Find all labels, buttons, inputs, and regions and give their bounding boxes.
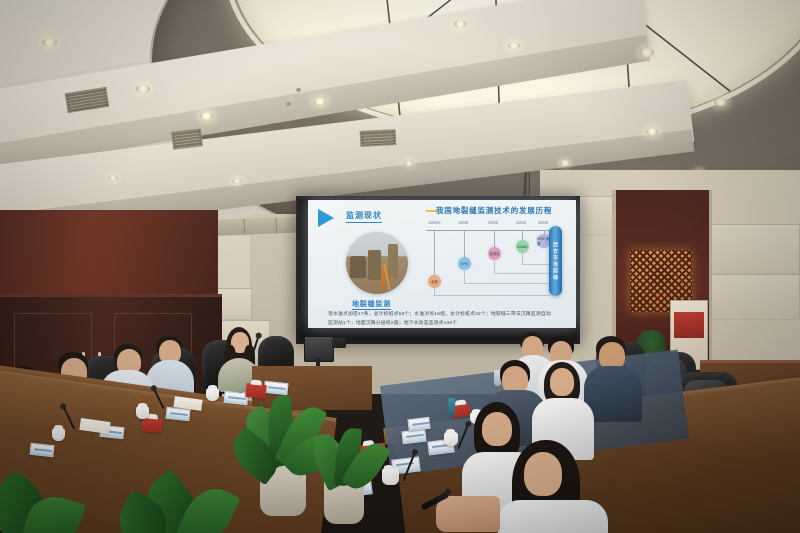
name-card: [29, 443, 54, 457]
camera-device: [332, 338, 346, 348]
slide-header: 我国地裂缝监测技术的发展历程: [436, 205, 552, 216]
timeline-year-2: 2000: [488, 220, 498, 225]
ceiling-downlight-2: [136, 85, 150, 93]
ceiling-downlight-10: [108, 175, 118, 181]
timeline-node-1: GPS: [458, 257, 471, 270]
tissue-box: [141, 417, 162, 433]
ceiling-downlight-11: [232, 178, 242, 184]
slide-section-title: 监测现状: [346, 210, 382, 223]
ceiling-downlight-9: [646, 128, 658, 135]
ceiling-downlight-5: [454, 20, 467, 28]
timeline-year-3: 2004: [516, 220, 526, 225]
ceiling-downlight-4: [314, 98, 326, 105]
ceiling-downlight-6: [508, 42, 520, 49]
stone-panel-6: [706, 274, 800, 320]
wall-poster-banner: [674, 312, 704, 338]
ceiling-downlight-3: [200, 112, 213, 120]
slide-timeline: 1960s 1998 2000 2004 2008 水准 GPS 自动化 InS…: [426, 220, 554, 296]
timeline-year-4: 2008: [538, 220, 548, 225]
timeline-year-0: 1960s: [428, 220, 441, 225]
teacup: [206, 388, 219, 401]
play-triangle-icon: [318, 209, 334, 227]
slide-body-line-2: 监测站1个；地面沉降分层标2座；地下水动态监测点106个: [328, 319, 457, 326]
slide-photo-caption: 地裂缝监测: [352, 299, 391, 310]
projection-screen[interactable]: 监测现状 我国地裂缝监测技术的发展历程 地裂缝监测 1960s 1998 200…: [308, 200, 576, 328]
ceiling-downlight-1: [42, 38, 57, 47]
ceiling-downlight-7: [640, 48, 654, 57]
slide-side-tab-label: 西安市地裂缝: [552, 242, 559, 281]
timeline-node-0: 水准: [428, 275, 441, 288]
timeline-axis: [426, 230, 552, 231]
timeline-node-3: InSAR: [516, 240, 529, 253]
ceiling-downlight-13: [560, 160, 570, 166]
teacup: [136, 406, 149, 419]
tissue-box: [245, 383, 266, 399]
slide-body-line-1: 现水准点加密17条，总计标桩点58个；水准对点16组，总计标桩点32个；地裂缝三…: [328, 310, 551, 317]
slide-side-tab: 西安市地裂缝: [549, 226, 562, 296]
timeline-year-1: 1998: [458, 220, 468, 225]
air-vent-3: [360, 129, 397, 147]
air-vent-2: [171, 128, 203, 150]
name-card: [263, 381, 288, 395]
teacup: [52, 428, 65, 441]
ceiling-downlight-12: [404, 160, 414, 166]
ceiling-downlight-8: [714, 98, 727, 106]
sprinkler-head-1: [296, 88, 301, 92]
water-bottle: [448, 398, 455, 416]
teacup: [444, 432, 458, 446]
meeting-room-photo: 监测现状 我国地裂缝监测技术的发展历程 地裂缝监测 1960s 1998 200…: [0, 0, 800, 533]
timeline-node-2: 自动化: [488, 247, 501, 260]
sprinkler-head-2: [286, 102, 291, 106]
stone-panel-5: [710, 224, 800, 274]
teacup: [382, 468, 399, 485]
slide-photo: [346, 232, 408, 294]
